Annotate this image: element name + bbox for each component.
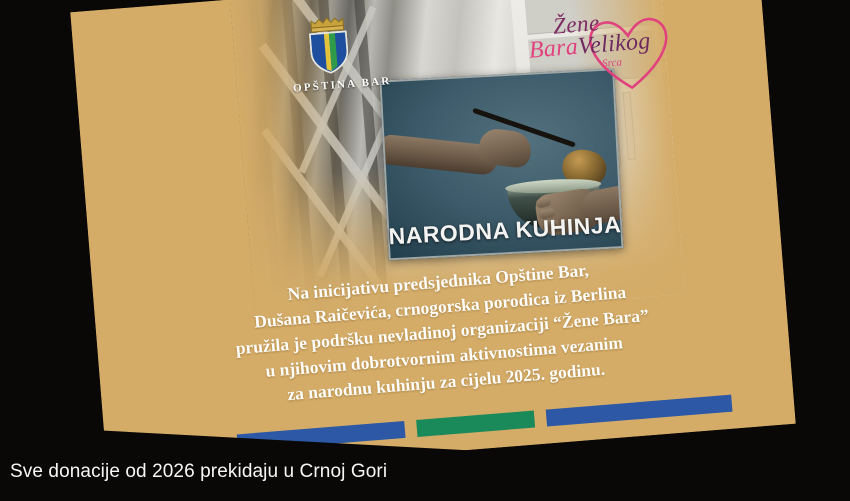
zene-line-2a: Bara	[528, 34, 579, 64]
zene-bara-logo: Žene BaraVelikog Srca	[524, 3, 670, 100]
narodna-kuhinja-poster: NARODNA KUHINJA	[379, 68, 623, 260]
zene-line-2b: Velikog	[577, 28, 652, 60]
caption-text: Sve donacije od 2026 prekidaju u Crnoj G…	[10, 461, 387, 483]
zene-line-3: Srca	[602, 56, 623, 70]
promo-card: NARODNA KUHINJA OPŠTINA BAR	[70, 0, 795, 479]
opstina-bar-crest: OPŠTINA BAR	[287, 11, 371, 95]
screenshot-stage: NARODNA KUHINJA OPŠTINA BAR	[0, 0, 850, 501]
coat-of-arms-shield-icon	[287, 11, 370, 79]
